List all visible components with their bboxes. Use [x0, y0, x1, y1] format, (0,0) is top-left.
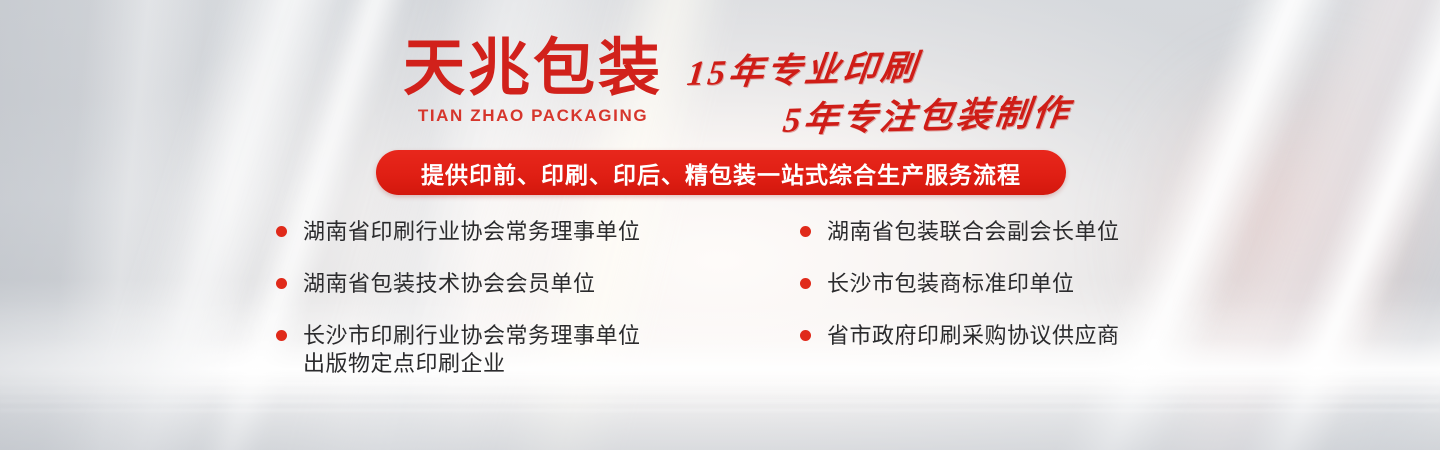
bullet-dot-icon [276, 330, 287, 341]
bullet-dot-icon [276, 226, 287, 237]
credential-item: 湖南省印刷行业协会常务理事单位 [276, 218, 726, 246]
credential-line: 湖南省包装技术协会会员单位 [303, 270, 726, 298]
logo-english-name: TIAN ZHAO PACKAGING [398, 106, 668, 126]
credential-text: 长沙市印刷行业协会常务理事单位出版物定点印刷企业 [303, 322, 726, 378]
bullet-dot-icon [800, 278, 811, 289]
company-logo: 天兆包装 TIAN ZHAO PACKAGING [398, 36, 668, 126]
credential-item: 湖南省包装联合会副会长单位 [800, 218, 1250, 246]
credential-item: 省市政府印刷采购协议供应商 [800, 322, 1250, 350]
credential-item: 长沙市印刷行业协会常务理事单位出版物定点印刷企业 [276, 322, 726, 378]
service-pill-banner: 提供印前、印刷、印后、精包装一站式综合生产服务流程 [376, 150, 1066, 195]
logo-chinese-name: 天兆包装 [398, 36, 668, 102]
credential-text: 湖南省包装联合会副会长单位 [827, 218, 1250, 246]
slogan-line-2: 5年专注包装制作 [781, 84, 1074, 142]
bullet-dot-icon [800, 226, 811, 237]
credential-line: 出版物定点印刷企业 [303, 350, 726, 378]
credential-line: 长沙市包装商标准印单位 [827, 270, 1250, 298]
service-pill-text: 提供印前、印刷、印后、精包装一站式综合生产服务流程 [421, 156, 1021, 190]
bullet-dot-icon [276, 278, 287, 289]
credential-line: 省市政府印刷采购协议供应商 [827, 322, 1250, 350]
credential-line: 长沙市印刷行业协会常务理事单位 [303, 322, 726, 350]
credential-line: 湖南省印刷行业协会常务理事单位 [303, 218, 726, 246]
credential-text: 湖南省印刷行业协会常务理事单位 [303, 218, 726, 246]
credential-text: 长沙市包装商标准印单位 [827, 270, 1250, 298]
credentials-list: 湖南省印刷行业协会常务理事单位湖南省包装技术协会会员单位长沙市印刷行业协会常务理… [276, 218, 1206, 408]
credential-text: 湖南省包装技术协会会员单位 [303, 270, 726, 298]
credential-item: 长沙市包装商标准印单位 [800, 270, 1250, 298]
promo-banner: 天兆包装 TIAN ZHAO PACKAGING 15年专业印刷 5年专注包装制… [0, 0, 1440, 450]
credential-item: 湖南省包装技术协会会员单位 [276, 270, 726, 298]
credential-text: 省市政府印刷采购协议供应商 [827, 322, 1250, 350]
credentials-column-left: 湖南省印刷行业协会常务理事单位湖南省包装技术协会会员单位长沙市印刷行业协会常务理… [276, 218, 726, 402]
slogan-line-1: 15年专业印刷 [685, 39, 923, 96]
credential-line: 湖南省包装联合会副会长单位 [827, 218, 1250, 246]
banner-content: 天兆包装 TIAN ZHAO PACKAGING 15年专业印刷 5年专注包装制… [0, 0, 1440, 450]
bullet-dot-icon [800, 330, 811, 341]
credentials-column-right: 湖南省包装联合会副会长单位长沙市包装商标准印单位省市政府印刷采购协议供应商 [800, 218, 1250, 374]
calligraphy-slogan: 15年专业印刷 5年专注包装制作 [676, 36, 1106, 146]
